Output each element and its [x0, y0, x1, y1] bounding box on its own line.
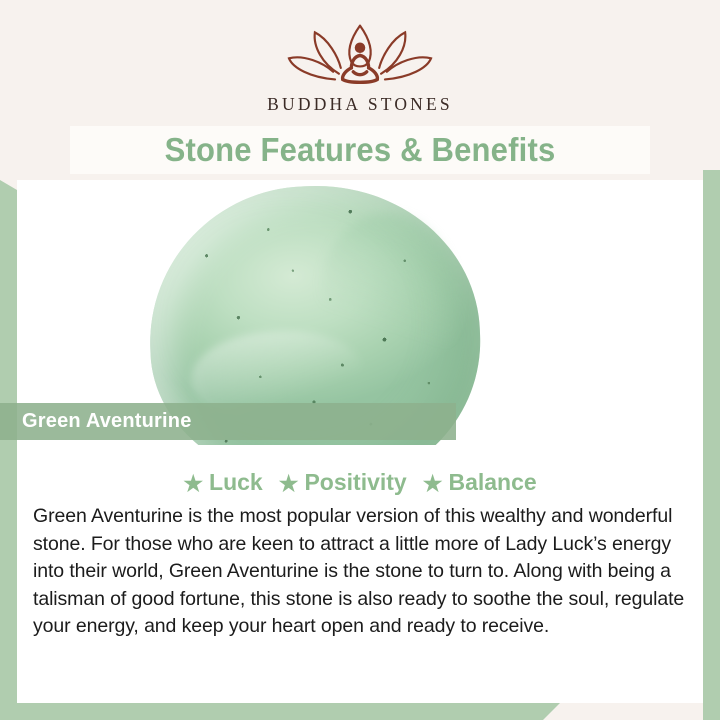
page-title: Stone Features & Benefits [22, 128, 699, 172]
header-band: BUDDHA STONES Stone Features & Benefits [0, 0, 720, 180]
star-icon: ★ [183, 471, 203, 497]
brand-logo: BUDDHA STONES [0, 18, 720, 115]
keyword-balance-label: Balance [448, 469, 536, 495]
frame-left-bar [0, 180, 17, 703]
stone-name-text: Green Aventurine [22, 410, 192, 433]
star-icon: ★ [279, 471, 299, 497]
description-panel: ★Luck ★Positivity ★Balance Green Aventur… [17, 445, 703, 703]
frame-right-bar [703, 170, 720, 720]
keyword-row: ★Luck ★Positivity ★Balance [17, 469, 703, 497]
keyword-luck-label: Luck [209, 469, 263, 495]
keyword-balance: ★Balance [423, 469, 537, 497]
lotus-meditation-icon [275, 18, 445, 90]
brand-name: BUDDHA STONES [0, 94, 720, 115]
keyword-luck: ★Luck [183, 469, 262, 497]
keyword-positivity-label: Positivity [304, 469, 406, 495]
keyword-positivity: ★Positivity [279, 469, 407, 497]
star-icon: ★ [423, 471, 443, 497]
description-text: Green Aventurine is the most popular ver… [33, 503, 693, 641]
stone-name-label: Green Aventurine [0, 403, 456, 440]
frame-bottom-bar [0, 703, 560, 720]
infographic-page: BUDDHA STONES Stone Features & Benefits … [0, 0, 720, 720]
